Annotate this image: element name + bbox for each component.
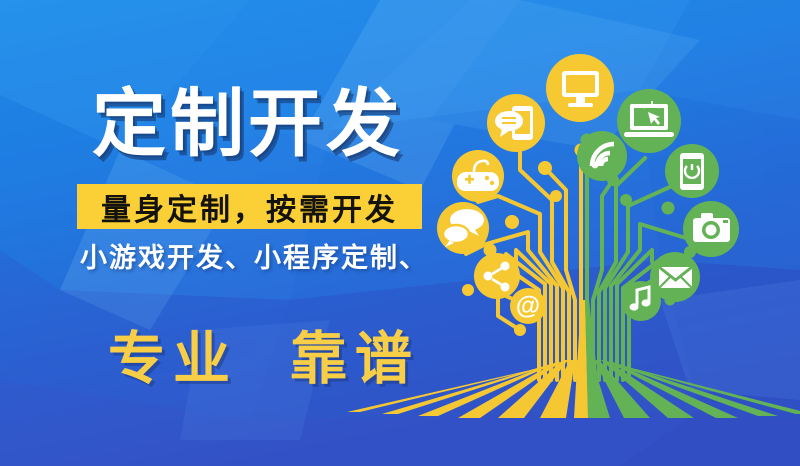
- sub-banner-text: 量身定制，按需开发: [101, 185, 398, 229]
- sub-banner: 量身定制，按需开发: [77, 184, 422, 229]
- copy-block: 定制开发 量身定制，按需开发 小游戏开发、小程序定制、 专业 靠谱: [0, 0, 450, 466]
- slogan-right: 靠谱: [290, 327, 420, 391]
- slogan-left: 专业: [108, 327, 238, 391]
- slogan: 专业 靠谱: [108, 313, 420, 395]
- page-title: 定制开发: [92, 84, 404, 164]
- promo-banner: @: [0, 0, 800, 466]
- tagline: 小游戏开发、小程序定制、: [80, 236, 428, 275]
